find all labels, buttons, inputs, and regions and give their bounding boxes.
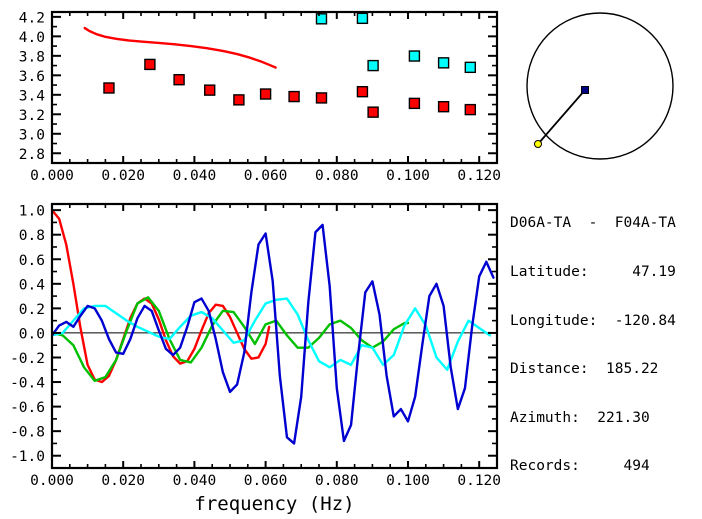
y-tick-label: 2.8 bbox=[19, 147, 45, 163]
data-point-marker bbox=[409, 51, 419, 61]
x-tick-label: 0.060 bbox=[244, 168, 288, 184]
path-line bbox=[538, 90, 585, 144]
distance-row: Distance: 185.22 bbox=[510, 361, 700, 377]
data-point-marker bbox=[357, 13, 367, 23]
data-point-marker bbox=[357, 87, 367, 97]
x-tick-label: 0.040 bbox=[173, 168, 217, 184]
data-point-marker bbox=[439, 102, 449, 112]
station-marker bbox=[582, 87, 589, 94]
group-velocity-red bbox=[104, 59, 475, 117]
data-point-marker bbox=[409, 98, 419, 108]
x-tick-label: 0.080 bbox=[315, 168, 359, 184]
y-tick-label: -0.6 bbox=[10, 400, 45, 416]
data-point-marker bbox=[145, 59, 155, 69]
longitude-row: Longitude: -120.84 bbox=[510, 313, 700, 329]
plot-frame bbox=[52, 12, 497, 163]
x-tick-label: 0.060 bbox=[244, 473, 288, 489]
y-tick-label: 3.0 bbox=[19, 127, 45, 143]
data-point-marker bbox=[368, 107, 378, 117]
y-tick-label: 0.0 bbox=[19, 326, 45, 342]
data-point-marker bbox=[289, 92, 299, 102]
x-tick-label: 0.100 bbox=[386, 168, 430, 184]
y-tick-label: 4.0 bbox=[19, 30, 45, 46]
data-point-marker bbox=[234, 95, 244, 105]
y-tick-label: -0.2 bbox=[10, 351, 45, 367]
x-tick-label: 0.040 bbox=[173, 473, 217, 489]
data-point-marker bbox=[316, 14, 326, 24]
data-point-marker bbox=[368, 61, 378, 71]
y-tick-label: -1.0 bbox=[10, 449, 45, 465]
y-tick-label: 0.6 bbox=[19, 253, 45, 269]
x-axis-label: frequency (Hz) bbox=[194, 493, 354, 515]
records-row: Records: 494 bbox=[510, 458, 700, 474]
y-tick-label: 3.2 bbox=[19, 108, 45, 124]
x-tick-label: 0.000 bbox=[30, 168, 74, 184]
data-point-marker bbox=[174, 75, 184, 85]
coherence-blue bbox=[52, 225, 493, 444]
data-point-marker bbox=[316, 93, 326, 103]
y-tick-label: 0.2 bbox=[19, 302, 45, 318]
y-tick-label: 0.8 bbox=[19, 228, 45, 244]
y-tick-label: 3.4 bbox=[19, 88, 45, 104]
event-marker bbox=[535, 141, 542, 148]
coherence-red bbox=[52, 210, 269, 382]
x-tick-label: 0.020 bbox=[101, 168, 145, 184]
y-tick-label: 1.0 bbox=[19, 204, 45, 220]
y-tick-label: 4.2 bbox=[19, 10, 45, 26]
x-tick-label: 0.080 bbox=[315, 473, 359, 489]
y-tick-label: -0.4 bbox=[10, 376, 45, 392]
cross-correlation-plot: 0.0000.0200.0400.0600.0800.1000.120-1.0-… bbox=[10, 204, 501, 515]
figure-root: 0.0000.0200.0400.0600.0800.1000.1202.83.… bbox=[0, 0, 702, 519]
metadata-panel: D06A-TA - F04A-TA Latitude: 47.19 Longit… bbox=[510, 183, 700, 507]
dispersion-plot: 0.0000.0200.0400.0600.0800.1000.1202.83.… bbox=[19, 10, 501, 184]
y-tick-label: -0.8 bbox=[10, 425, 45, 441]
boundary-circle bbox=[527, 13, 673, 159]
data-point-marker bbox=[465, 62, 475, 72]
azimuth-circle-diagram bbox=[527, 13, 673, 159]
y-tick-label: 3.6 bbox=[19, 69, 45, 85]
phase-velocity-cyan bbox=[316, 13, 475, 72]
data-point-marker bbox=[104, 83, 114, 93]
data-point-marker bbox=[439, 58, 449, 68]
y-tick-label: 3.8 bbox=[19, 49, 45, 65]
x-tick-label: 0.100 bbox=[386, 473, 430, 489]
data-point-marker bbox=[261, 89, 271, 99]
x-tick-label: 0.000 bbox=[30, 473, 74, 489]
data-point-marker bbox=[205, 85, 215, 95]
azimuth-row: Azimuth: 221.30 bbox=[510, 410, 700, 426]
data-point-marker bbox=[465, 105, 475, 115]
x-tick-label: 0.020 bbox=[101, 473, 145, 489]
x-tick-label: 0.120 bbox=[457, 168, 501, 184]
y-tick-label: 0.4 bbox=[19, 277, 45, 293]
reference-curve bbox=[85, 28, 276, 67]
x-tick-label: 0.120 bbox=[457, 473, 501, 489]
latitude-row: Latitude: 47.19 bbox=[510, 264, 700, 280]
station-pair-label: D06A-TA - F04A-TA bbox=[510, 215, 700, 231]
